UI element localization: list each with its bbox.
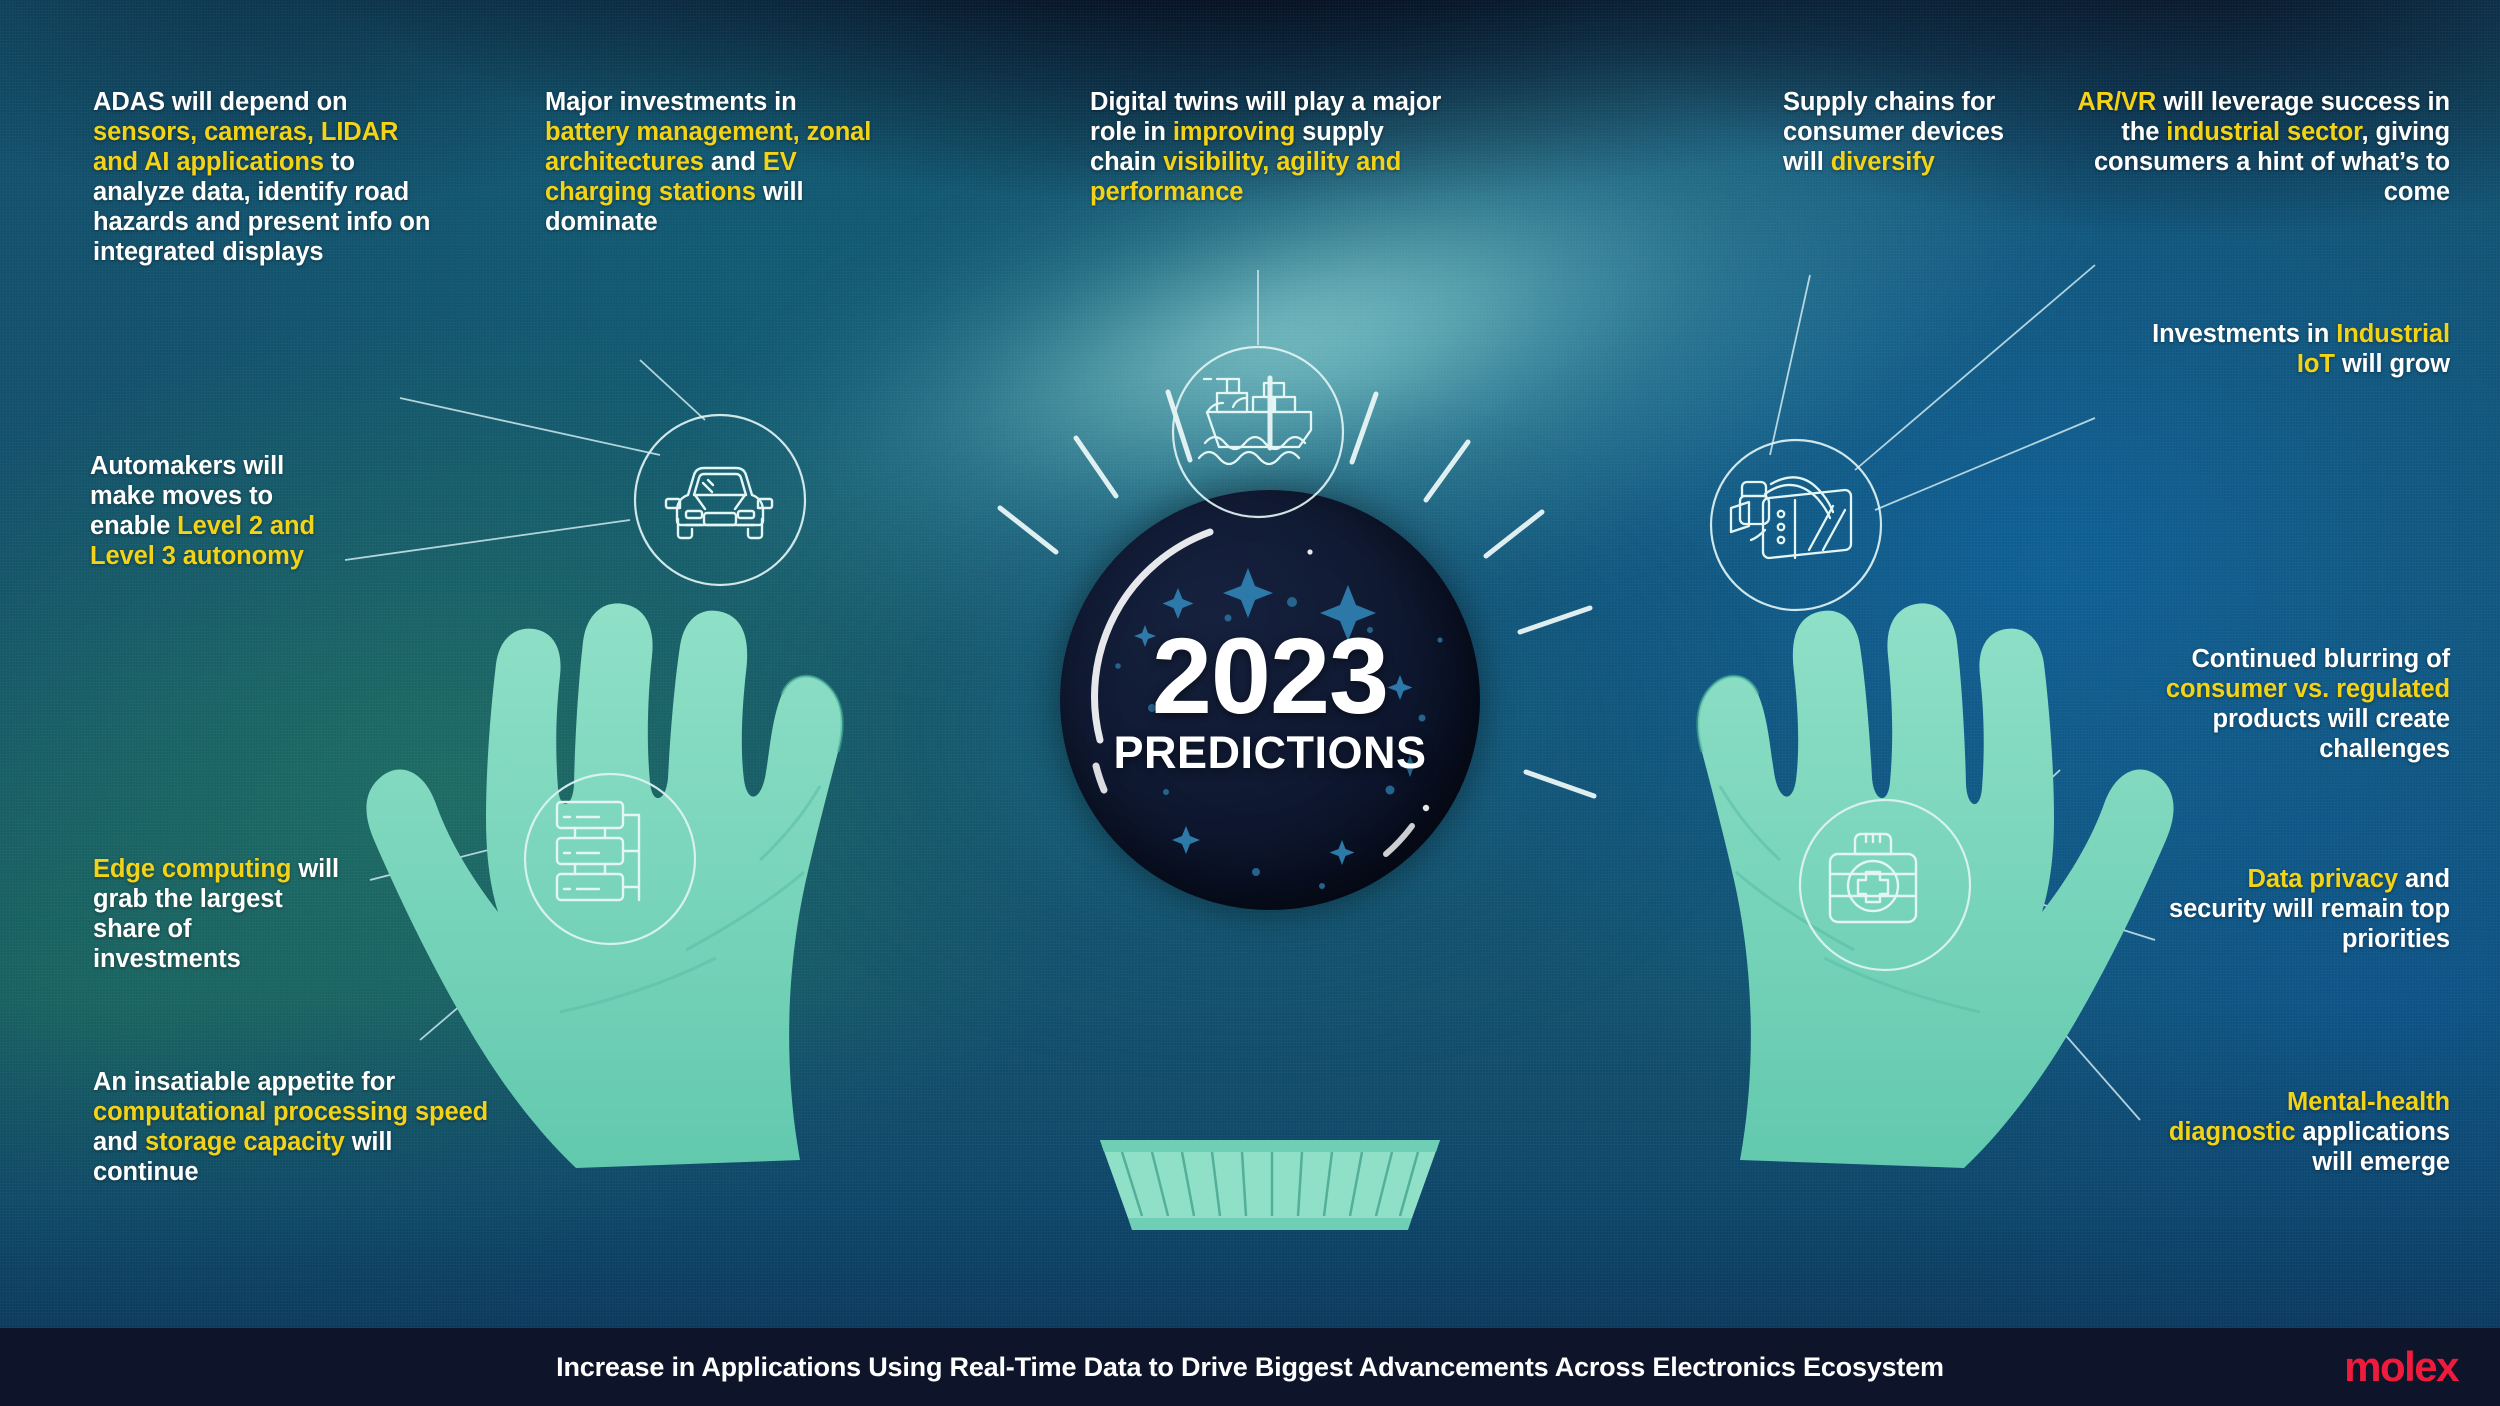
- highlight-text: storage capacity: [145, 1128, 345, 1156]
- highlight-text: consumer vs. regulated: [2166, 675, 2450, 703]
- car-icon-circle[interactable]: [633, 413, 807, 587]
- note-ar-vr: AR/VR will leverage success in the indus…: [2075, 88, 2450, 208]
- molex-logo: molex: [2344, 1343, 2458, 1391]
- ball-subtitle-text: PREDICTIONS: [1060, 730, 1480, 775]
- highlight-text: Data privacy: [2248, 865, 2398, 893]
- highlight-text: improving: [1173, 118, 1295, 146]
- body-text: Investments in: [2152, 320, 2336, 348]
- highlight-text: diversify: [1831, 148, 1935, 176]
- cargo-ship-icon: [1199, 379, 1311, 464]
- footer-bar: Increase in Applications Using Real-Time…: [0, 1328, 2500, 1406]
- medical-kit-icon: [1830, 834, 1916, 922]
- crystal-ball-stand: [1100, 1140, 1440, 1230]
- footer-headline: Increase in Applications Using Real-Time…: [556, 1352, 1944, 1383]
- highlight-text: computational processing speed: [93, 1098, 488, 1126]
- body-text: Continued blurring of: [2191, 645, 2450, 673]
- body-text: and: [93, 1128, 145, 1156]
- server-rack-icon: [557, 802, 639, 900]
- body-text: products will create challenges: [2213, 705, 2451, 763]
- body-text: Major investments in: [545, 88, 797, 116]
- ball-year-text: 2023: [1060, 625, 1480, 728]
- infographic-canvas: 2023 PREDICTIONS: [0, 0, 2500, 1406]
- crystal-ball: 2023 PREDICTIONS: [1060, 490, 1480, 910]
- medical-kit-icon-circle[interactable]: [1798, 798, 1972, 972]
- vr-headset-icon: [1731, 477, 1851, 558]
- note-industrial-iot: Investments in Industrial IoT will grow: [2110, 320, 2450, 380]
- note-supply-chains: Supply chains for consumer devices will …: [1783, 88, 2033, 178]
- note-automakers: Automakers will make moves to enable Lev…: [90, 452, 350, 572]
- body-text: applications will emerge: [2295, 1118, 2450, 1176]
- note-data-privacy: Data privacy and security will remain to…: [2160, 865, 2450, 955]
- note-battery-ev: Major investments in battery management,…: [545, 88, 875, 238]
- body-text: will grow: [2335, 350, 2450, 378]
- note-mental-health: Mental-health diagnostic applications wi…: [2160, 1088, 2450, 1178]
- car-icon: [666, 468, 772, 538]
- highlight-text: AR/VR: [2077, 88, 2156, 116]
- note-adas: ADAS will depend on sensors, cameras, LI…: [93, 88, 445, 268]
- note-regulated-products: Continued blurring of consumer vs. regul…: [2092, 645, 2450, 765]
- body-text: and: [704, 148, 763, 176]
- server-rack-icon-circle[interactable]: [523, 772, 697, 946]
- body-text: ADAS will depend on: [93, 88, 348, 116]
- vr-headset-icon-circle[interactable]: [1709, 438, 1883, 612]
- cargo-ship-icon-circle[interactable]: [1171, 345, 1345, 519]
- body-text: An insatiable appetite for: [93, 1068, 395, 1096]
- highlight-text: industrial sector: [2166, 118, 2361, 146]
- note-edge-computing: Edge computing will grab the largest sha…: [93, 855, 343, 975]
- note-compute-storage: An insatiable appetite for computational…: [93, 1068, 493, 1188]
- note-digital-twins: Digital twins will play a major role in …: [1090, 88, 1450, 208]
- highlight-text: Edge computing: [93, 855, 291, 883]
